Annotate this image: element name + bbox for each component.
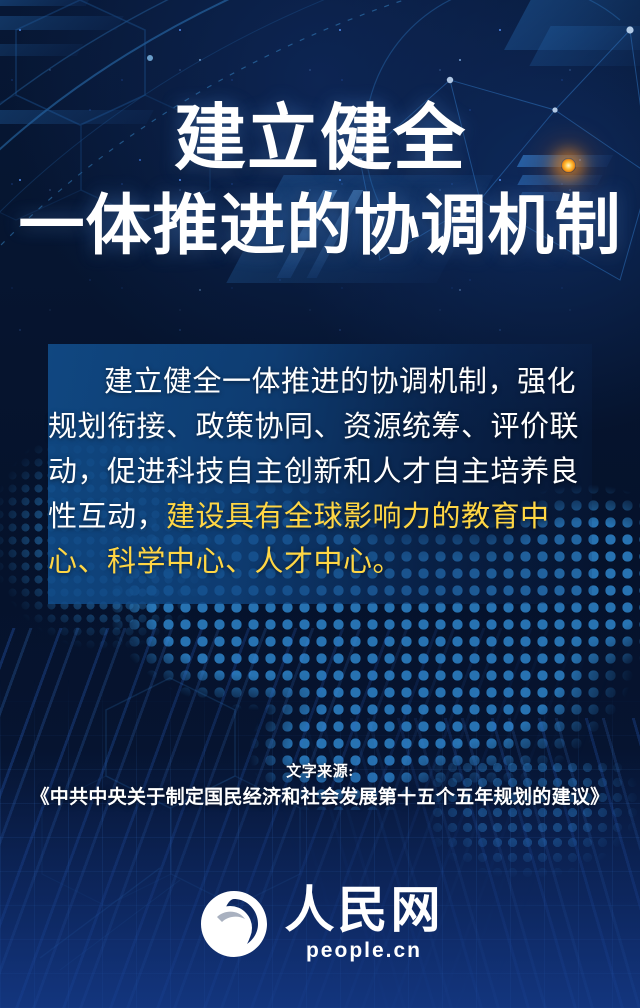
logo-name-en: people.cn: [306, 938, 422, 964]
title-line-1: 建立健全: [0, 96, 640, 182]
source-document: 《中共中央关于制定国民经济和社会发展第十五个五年规划的建议》: [0, 784, 640, 812]
body-paragraph: 建立健全一体推进的协调机制，强化规划衔接、政策协同、资源统筹、评价联动，促进科技…: [48, 360, 600, 585]
poster-title: 建立健全 一体推进的协调机制: [0, 96, 640, 268]
title-line-2: 一体推进的协调机制: [0, 182, 640, 268]
logo-wordmark: 人民网 people.cn: [285, 884, 444, 964]
site-logo[interactable]: 人民网 people.cn: [0, 884, 640, 964]
source-credit: 文字来源: 《中共中央关于制定国民经济和社会发展第十五个五年规划的建议》: [0, 760, 640, 812]
people-daily-globe-icon: [197, 887, 271, 961]
poster-canvas: 建立健全 一体推进的协调机制 建立健全一体推进的协调机制，强化规划衔接、政策协同…: [0, 0, 640, 1008]
source-label: 文字来源:: [0, 760, 640, 784]
logo-name-cn: 人民网: [285, 884, 444, 936]
